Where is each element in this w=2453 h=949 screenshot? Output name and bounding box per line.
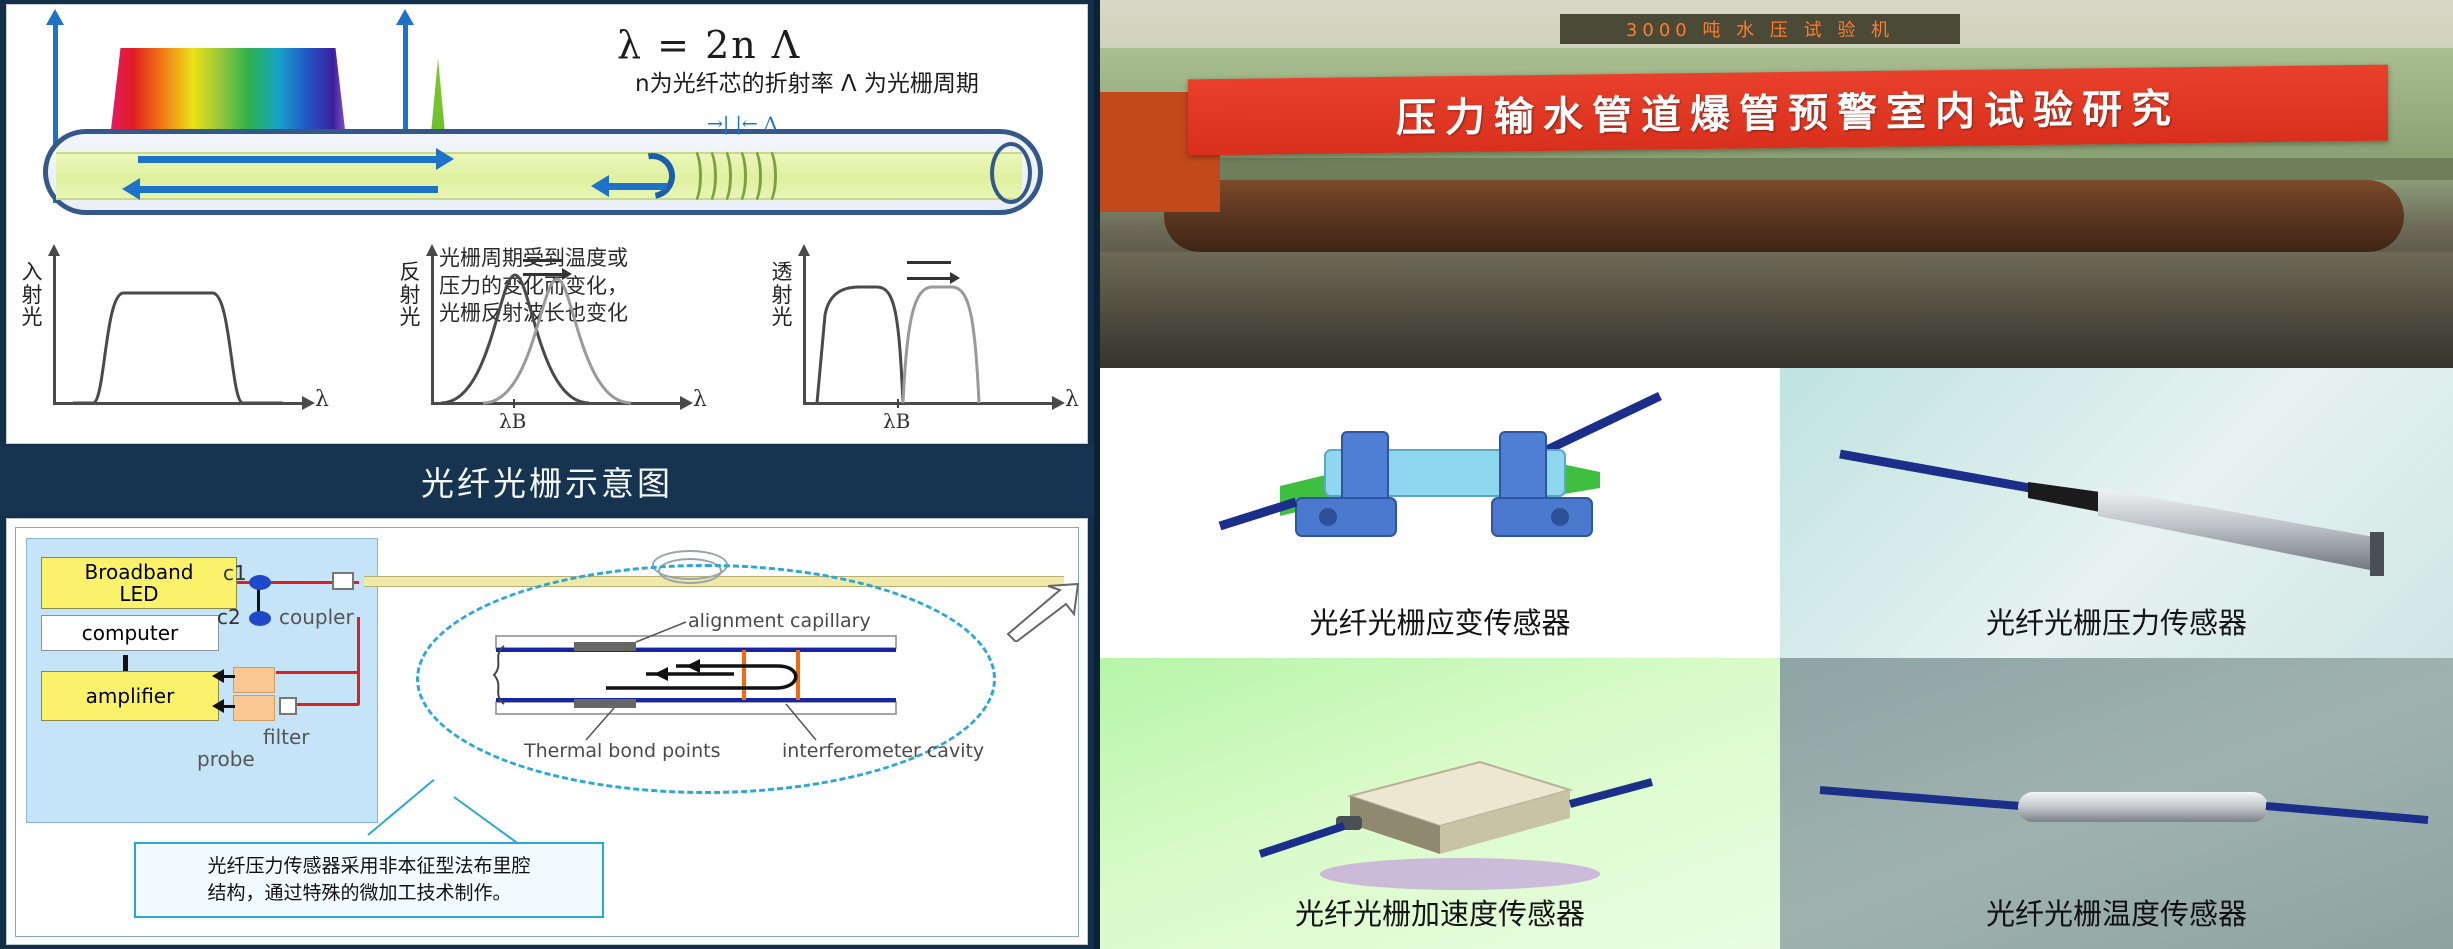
filter-label: filter bbox=[263, 725, 310, 749]
coupler-c2-node bbox=[249, 611, 271, 626]
pressure-sensor-image bbox=[1780, 382, 2453, 612]
machine-sign: 3000 吨 水 压 试 验 机 bbox=[1560, 14, 1960, 44]
thermal-bond-points-label: Thermal bond points bbox=[524, 740, 720, 762]
interrogator-box: Broadband LED computer amplifier bbox=[26, 538, 378, 823]
fp-sensor-callout-text: 光纤压力传感器采用非本征型法布里腔 结构，通过特殊的微加工技术制作。 bbox=[207, 853, 530, 906]
interferometer-cavity-label: interferometer cavity bbox=[782, 740, 984, 762]
incident-curve bbox=[53, 255, 303, 405]
shift-arrow bbox=[907, 277, 951, 280]
coupler-c1-node bbox=[249, 575, 271, 590]
section-title-text: 光纤光栅示意图 bbox=[421, 457, 673, 505]
broadband-led-label: Broadband LED bbox=[84, 561, 193, 605]
c2-label: c2 bbox=[217, 605, 241, 629]
machine-sign-text: 3000 吨 水 压 试 验 机 bbox=[1626, 16, 1894, 42]
press-frame-rail bbox=[1100, 158, 2453, 180]
fp-cavity-detail bbox=[486, 616, 906, 756]
probe-node-lower bbox=[233, 695, 275, 721]
sensor-caption-temperature: 光纤光栅温度传感器 bbox=[1780, 891, 2453, 933]
fiber-end-cap bbox=[990, 142, 1032, 204]
reflected-axis-label: 反射光 bbox=[397, 261, 423, 329]
transmitted-axis-label: 透射光 bbox=[769, 261, 795, 329]
shift-bar bbox=[907, 261, 951, 264]
section-title-banner: 光纤光栅示意图 bbox=[0, 446, 1094, 516]
shift-arrow bbox=[523, 273, 563, 276]
x-axis-lambda-label: λ bbox=[315, 387, 329, 412]
sensor-photo-grid: 光纤光栅应变传感器 光纤光栅压力传感器 bbox=[1100, 368, 2453, 949]
accelerometer-sensor-image bbox=[1100, 678, 1780, 908]
reflected-curves bbox=[431, 255, 681, 405]
x-axis-lambda-label: λ bbox=[1065, 387, 1079, 412]
bragg-formula-note: n为光纤芯的折射率 Λ 为光栅周期 bbox=[635, 71, 979, 98]
lambda-b-label: λB bbox=[883, 409, 910, 433]
zoom-pointer-arrow bbox=[1004, 582, 1084, 642]
system-diagram-frame: Broadband LED computer amplifier bbox=[15, 527, 1079, 937]
amplifier-node: amplifier bbox=[41, 671, 219, 721]
fiber-connector-square bbox=[332, 572, 354, 590]
alignment-capillary-label: alignment capillary bbox=[688, 610, 871, 632]
x-axis-lambda-label: λ bbox=[693, 387, 707, 412]
probe-label: probe bbox=[197, 747, 255, 771]
forward-light-arrow bbox=[138, 156, 438, 163]
grating-lines bbox=[683, 147, 775, 199]
red-banner: 压力输水管道爆管预警室内试验研究 bbox=[1188, 65, 2388, 156]
strain-sensor-image bbox=[1100, 376, 1780, 606]
lambda-b-label: λB bbox=[499, 409, 526, 433]
c2-to-probe-wire bbox=[276, 671, 360, 674]
right-column: 3000 吨 水 压 试 验 机 压力输水管道爆管预警室内试验研究 bbox=[1100, 0, 2453, 949]
transmitted-spectrum: 透射光 λB λ bbox=[769, 247, 1099, 437]
filter-branch-wire bbox=[289, 703, 359, 706]
return-light-arrow bbox=[607, 183, 667, 190]
sensor-cell-strain: 光纤光栅应变传感器 bbox=[1100, 368, 1780, 658]
c1-label: c1 bbox=[223, 561, 247, 585]
y-axis-arrow bbox=[46, 9, 64, 25]
probe-node-upper bbox=[233, 667, 275, 693]
sensor-cell-pressure: 光纤光栅压力传感器 bbox=[1780, 368, 2453, 658]
amp-to-computer-arrow bbox=[123, 655, 128, 671]
red-banner-text: 压力输水管道爆管预警室内试验研究 bbox=[1396, 76, 2180, 144]
reflected-light-arrow bbox=[138, 186, 438, 193]
reflected-spectrum: 反射光 λB λ bbox=[397, 247, 727, 437]
y-axis-arrow bbox=[396, 9, 414, 25]
incident-axis-label: 入射光 bbox=[19, 261, 45, 329]
left-column: λ = 2n Λ n为光纤芯的折射率 Λ 为光栅周期 →| |← Λ 光栅周期受… bbox=[0, 0, 1094, 949]
c2-down-wire bbox=[357, 617, 360, 705]
computer-node: computer bbox=[41, 615, 219, 651]
grating-period-marker: →| |← Λ bbox=[707, 113, 777, 135]
optical-fiber-illustration bbox=[43, 129, 1043, 215]
sensor-caption-strain: 光纤光栅应变传感器 bbox=[1100, 600, 1780, 642]
fbg-principle-panel: λ = 2n Λ n为光纤芯的折射率 Λ 为光栅周期 →| |← Λ 光栅周期受… bbox=[6, 4, 1088, 444]
sensor-cell-temperature: 光纤光栅温度传感器 bbox=[1780, 658, 2453, 949]
pressure-test-photo: 3000 吨 水 压 试 验 机 压力输水管道爆管预警室内试验研究 bbox=[1100, 0, 2453, 368]
broadband-led-node: Broadband LED bbox=[41, 557, 237, 609]
filter-square bbox=[279, 697, 297, 715]
callout-leader-right bbox=[453, 796, 522, 847]
fiber-sensing-system-panel: Broadband LED computer amplifier bbox=[6, 518, 1088, 945]
grating-period-symbol: Λ bbox=[764, 113, 778, 135]
temperature-sensor-image bbox=[1780, 694, 2453, 924]
probe-to-amp-wire-2 bbox=[223, 705, 235, 708]
bragg-formula: λ = 2n Λ bbox=[617, 23, 801, 67]
sensor-cell-accelerometer: 光纤光栅加速度传感器 bbox=[1100, 658, 1780, 949]
test-pipe bbox=[1164, 180, 2404, 252]
probe-to-amp-wire-1 bbox=[223, 675, 235, 678]
shift-bar bbox=[523, 259, 563, 262]
sensor-caption-pressure: 光纤光栅压力传感器 bbox=[1780, 600, 2453, 642]
computer-label: computer bbox=[82, 621, 178, 645]
press-base bbox=[1100, 252, 2453, 368]
coupler-label: coupler bbox=[279, 605, 354, 629]
slide-root: λ = 2n Λ n为光纤芯的折射率 Λ 为光栅周期 →| |← Λ 光栅周期受… bbox=[0, 0, 2453, 949]
amplifier-label: amplifier bbox=[86, 684, 175, 708]
lambda-b-tick bbox=[513, 399, 515, 408]
lambda-b-tick bbox=[897, 399, 899, 408]
fp-sensor-callout: 光纤压力传感器采用非本征型法布里腔 结构，通过特殊的微加工技术制作。 bbox=[134, 842, 604, 918]
incident-spectrum: 入射光 λ bbox=[19, 247, 349, 437]
sensor-caption-accelerometer: 光纤光栅加速度传感器 bbox=[1100, 891, 1780, 933]
